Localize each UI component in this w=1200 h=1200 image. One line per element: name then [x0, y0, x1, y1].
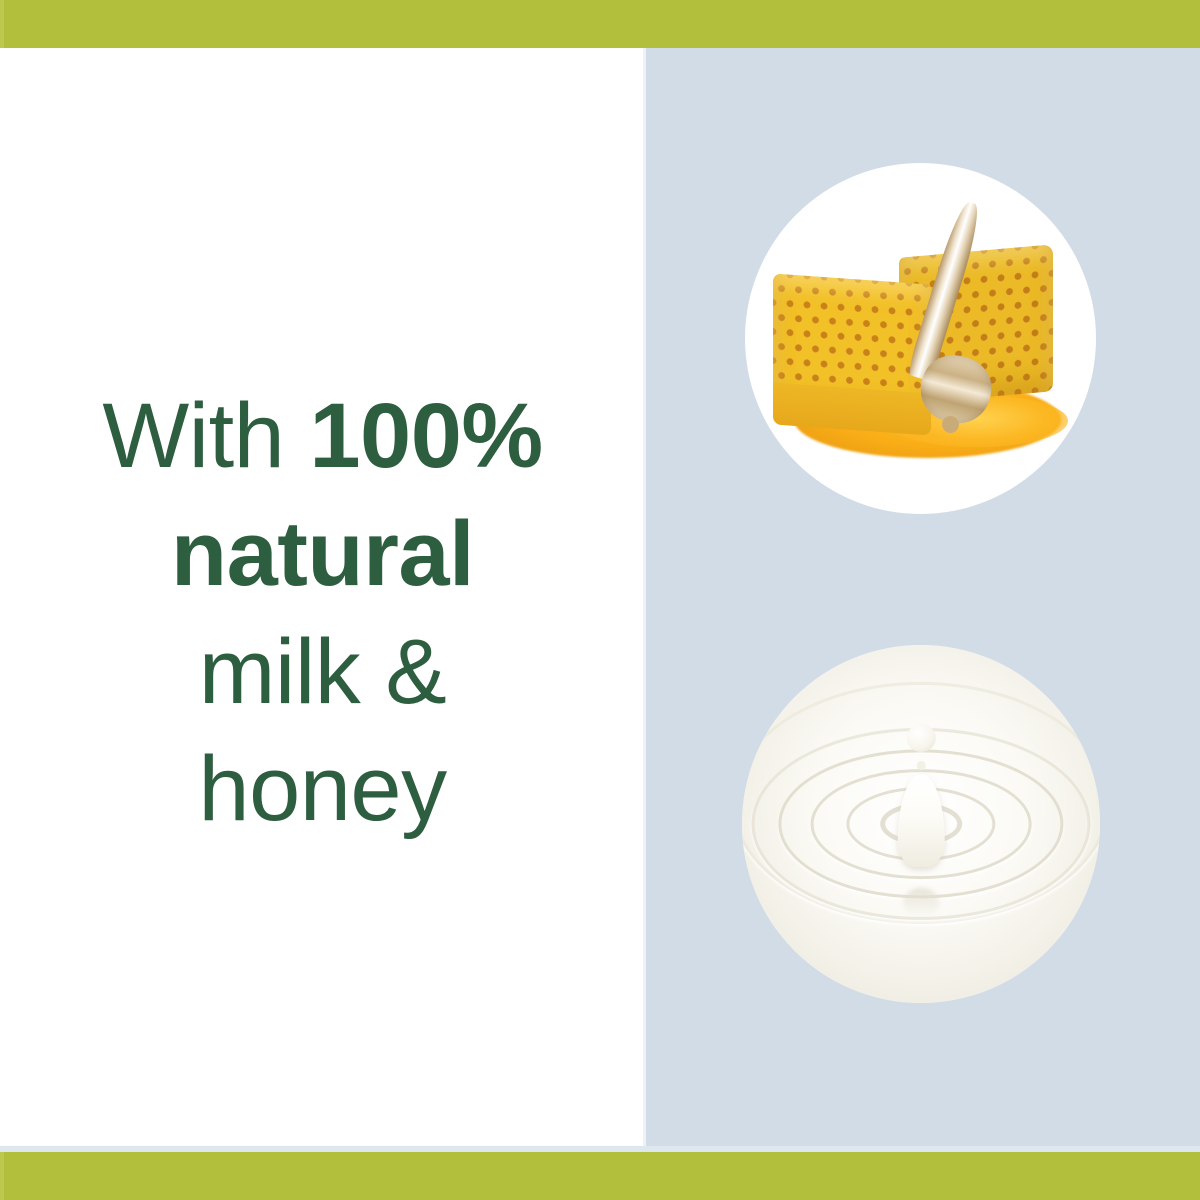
top-brand-band: [0, 0, 1200, 48]
headline-word-with: With: [102, 385, 309, 487]
bottom-band-left-edge: [0, 1152, 4, 1200]
promo-banner: With 100% natural milk & honey: [0, 0, 1200, 1200]
milk-droplet-large: [907, 724, 936, 753]
milk-droplet-small: [917, 761, 926, 770]
bottom-brand-band: [0, 1152, 1200, 1200]
milk-splash-photo: [742, 645, 1100, 1003]
panel-divider: [643, 48, 646, 1146]
honeycomb-illustration: [745, 163, 1096, 514]
milk-crown-shadow: [903, 888, 939, 917]
headline-line-3-milk-and: milk &: [30, 614, 615, 732]
headline-line-4-honey: honey: [30, 731, 615, 849]
headline-word-100-percent: 100%: [309, 385, 542, 487]
headline-line-1: With 100%: [30, 378, 615, 496]
honeycomb-with-dipper-photo: [745, 163, 1096, 514]
top-band-left-edge: [0, 0, 4, 48]
headline-line-2-natural: natural: [30, 496, 615, 614]
headline-block: With 100% natural milk & honey: [30, 378, 615, 849]
left-text-panel: With 100% natural milk & honey: [0, 48, 645, 1146]
milk-illustration: [742, 645, 1100, 1003]
